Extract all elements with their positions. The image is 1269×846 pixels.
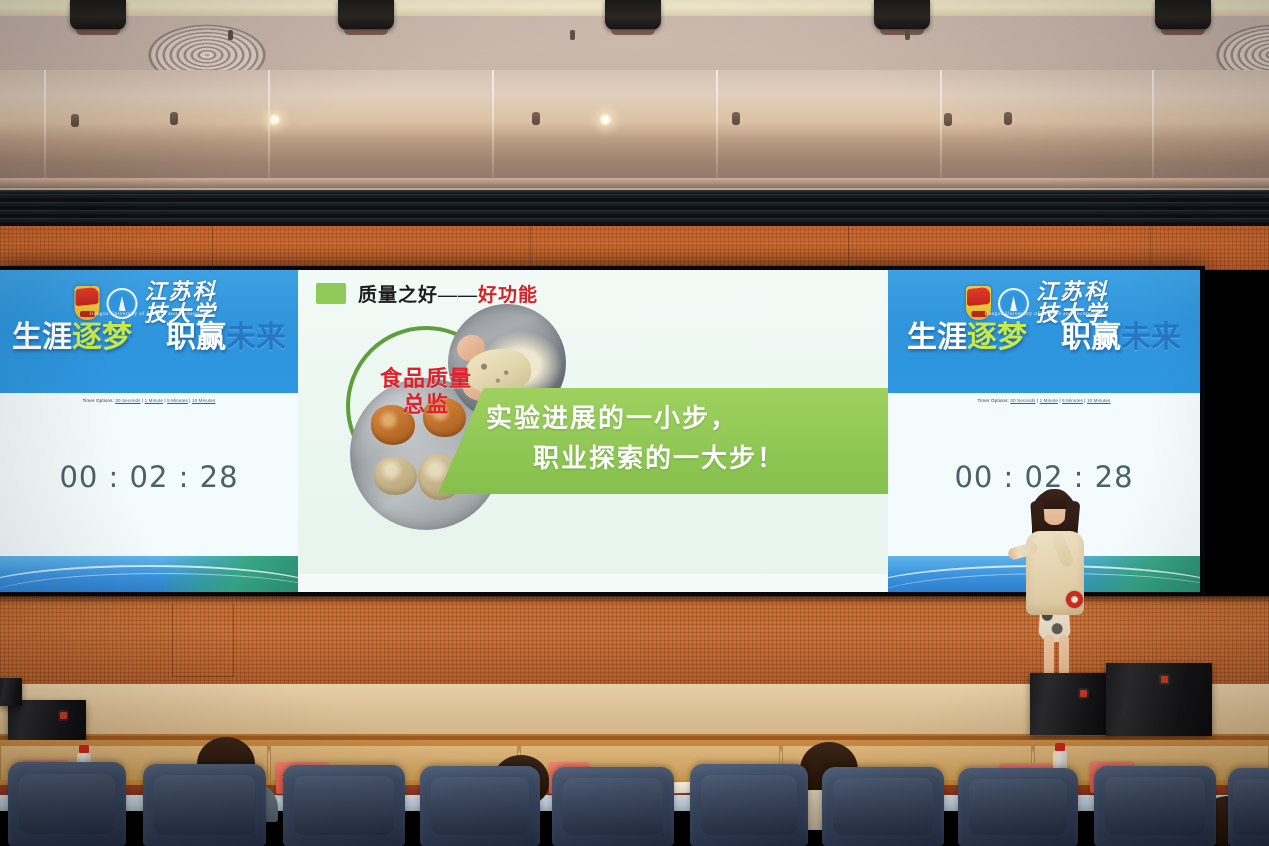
timer-option-30s[interactable]: 30 Seconds <box>115 398 140 403</box>
wall-base-trim <box>0 178 1269 188</box>
audience-seat <box>690 764 808 846</box>
right-timer-options: Timer Options: 30 Seconds | 1 Minute | 5… <box>888 398 1200 403</box>
audience-seat <box>1094 766 1216 846</box>
slogan-seg-2: 逐梦 <box>967 323 1027 353</box>
wall-lamp-icon <box>170 112 178 125</box>
audience-seat <box>420 766 540 846</box>
slide-bottom-strip <box>298 574 888 592</box>
auditorium-scene: 江苏科技大学 Jiangsu University of Science and… <box>0 0 1269 846</box>
timer-options-label: Timer Options: <box>978 398 1009 403</box>
right-logo-row: 江苏科技大学 <box>966 281 1122 325</box>
role-label: 食品质量 总监 <box>350 366 502 418</box>
left-brand-banner: 江苏科技大学 Jiangsu University of Science and… <box>0 270 298 393</box>
timer-options-label: Timer Options: <box>83 398 114 403</box>
timer-option-1m[interactable]: 1 Minute <box>1040 398 1058 403</box>
right-brand-banner: 江苏科技大学 Jiangsu University of Science and… <box>888 270 1200 393</box>
callout-text-line1: 实验进展的一小步， <box>486 398 738 435</box>
timer-option-5m[interactable]: 5 Minutes <box>167 398 188 403</box>
left-timer-value: 00 : 02 : 28 <box>0 460 298 494</box>
acoustic-wall-upper <box>0 226 1269 270</box>
callout-text-line2: 职业探索的一大步！ <box>533 438 785 475</box>
right-slogan: 生涯 逐梦 职 赢 未来 <box>888 323 1200 353</box>
timer-option-30s[interactable]: 30 Seconds <box>1010 398 1035 403</box>
timer-option-10m[interactable]: 10 Minutes <box>1087 398 1110 403</box>
university-name-en: Jiangsu University of Science and Techno… <box>984 311 1104 317</box>
audience-seat <box>822 767 944 846</box>
audience-seat <box>8 762 126 846</box>
left-logo-row: 江苏科技大学 <box>75 281 224 325</box>
track-light-icon <box>70 0 126 30</box>
track-light-icon <box>874 0 930 30</box>
left-footer-graphic <box>0 556 298 592</box>
slogan-seg-1: 生涯 <box>907 323 967 353</box>
wall-spotlight-icon <box>268 113 281 126</box>
upper-wall-glass <box>0 70 1269 185</box>
glass-panel-seam <box>1152 70 1154 178</box>
wall-lamp-icon <box>71 114 79 127</box>
stage-speaker-icon <box>8 700 86 740</box>
university-name-en: Jiangsu University of Science and Techno… <box>89 311 209 317</box>
louver-knob-icon <box>905 30 910 40</box>
wall-lamp-icon <box>532 112 540 125</box>
role-label-line2: 总监 <box>350 392 502 418</box>
slogan-seg-5: 未来 <box>1121 323 1181 353</box>
stage-speaker-icon <box>1106 663 1212 736</box>
stage-speaker-icon <box>1030 673 1110 735</box>
audience-seat <box>1228 768 1269 846</box>
slogan-seg-4: 赢 <box>196 323 226 353</box>
left-slogan: 生涯 逐梦 职 赢 未来 <box>0 323 298 353</box>
timer-option-10m[interactable]: 10 Minutes <box>192 398 215 403</box>
glass-panel-seam <box>716 70 718 178</box>
track-light-icon <box>1155 0 1211 30</box>
slogan-seg-5: 未来 <box>226 323 286 353</box>
timer-option-1m[interactable]: 1 Minute <box>145 398 163 403</box>
slogan-seg-3: 职 <box>166 323 196 353</box>
slogan-seg-2: 逐梦 <box>72 323 132 353</box>
louver-knob-icon <box>228 30 233 40</box>
glass-panel-seam <box>940 70 942 178</box>
university-name-cn: 江苏科技大学 <box>145 281 224 325</box>
presenter-badge-icon <box>1066 591 1083 608</box>
slide-title-row: 质量之好——好功能 <box>316 280 538 307</box>
wall-lamp-icon <box>1004 112 1012 125</box>
audience-seat <box>958 768 1078 846</box>
audience-seat <box>552 767 674 846</box>
presenter <box>1004 487 1104 695</box>
timer-option-5m[interactable]: 5 Minutes <box>1062 398 1083 403</box>
slide-title-dash: —— <box>438 285 478 306</box>
audience-seat <box>143 764 266 846</box>
track-light-icon <box>338 0 394 30</box>
ceiling-louvers <box>0 190 1269 228</box>
screen-left-timer-panel: 江苏科技大学 Jiangsu University of Science and… <box>0 270 298 592</box>
slide-title-accent: 好功能 <box>478 285 538 306</box>
glass-panel-seam <box>44 70 46 178</box>
wall-spotlight-icon <box>599 113 612 126</box>
university-name-cn: 江苏科技大学 <box>1036 281 1122 325</box>
role-label-line1: 食品质量 <box>350 366 502 392</box>
slogan-seg-1: 生涯 <box>12 323 72 353</box>
slogan-seg-4: 赢 <box>1091 323 1121 353</box>
louver-knob-icon <box>570 30 575 40</box>
slide-title: 质量之好——好功能 <box>358 280 538 307</box>
stage-access-door <box>172 604 234 677</box>
slogan-seg-3: 职 <box>1061 323 1091 353</box>
screen-center-slide: 质量之好——好功能 实验进展的一小步， 职业探索的一大步！ <box>298 270 888 592</box>
glass-panel-seam <box>492 70 494 178</box>
track-light-icon <box>605 0 661 30</box>
left-timer-options: Timer Options: 30 Seconds | 1 Minute | 5… <box>0 398 298 403</box>
audience-seat <box>283 765 405 846</box>
slide-title-main: 质量之好 <box>358 285 438 306</box>
wall-lamp-icon <box>944 113 952 126</box>
wall-lamp-icon <box>732 112 740 125</box>
title-chip-icon <box>316 283 346 304</box>
stage-speaker-icon <box>0 678 22 706</box>
